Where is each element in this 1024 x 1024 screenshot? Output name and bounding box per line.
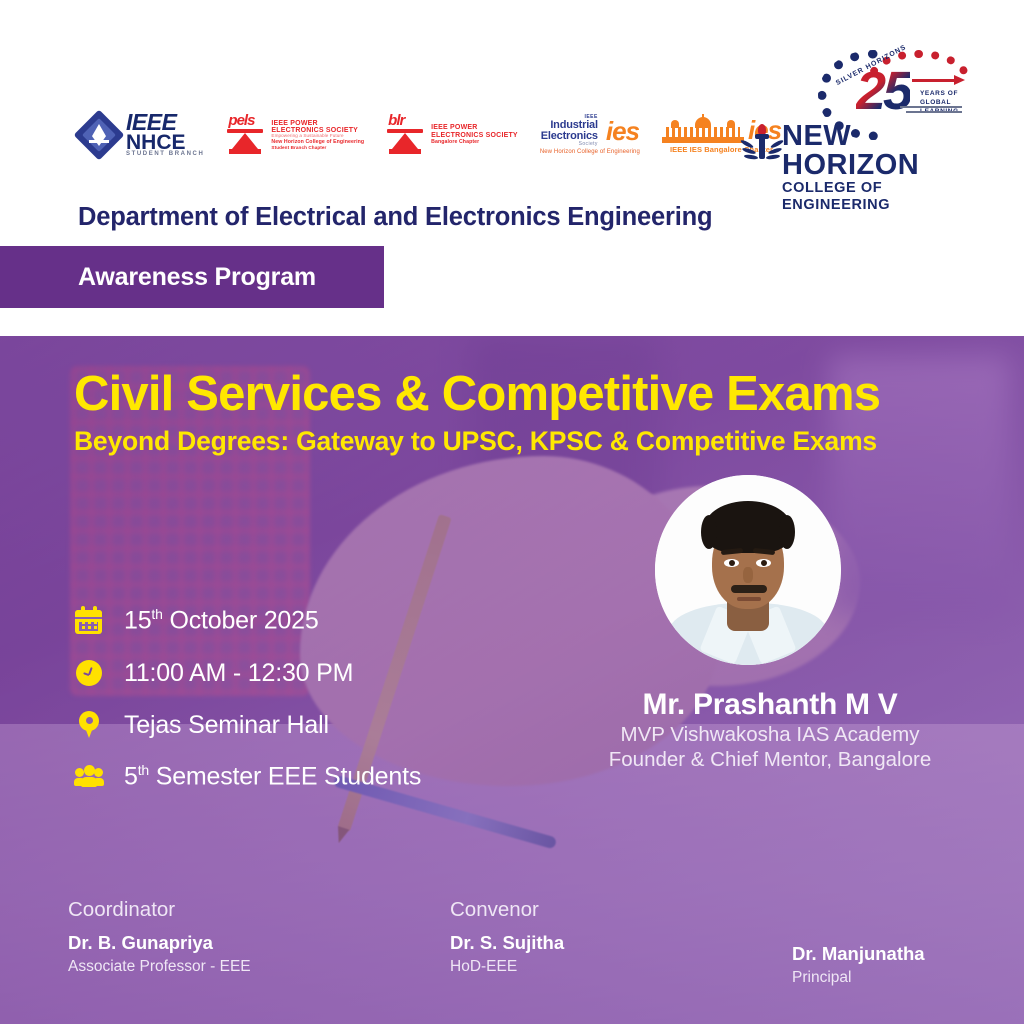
ies-text-society: Society [541, 142, 598, 147]
ieee-industrial-electronics-logo: IEEE Industrial Electronics Society ies … [540, 115, 640, 155]
audience-sem: 5 [124, 763, 138, 791]
audience-suffix: th [138, 762, 149, 778]
pels-mark-icon: pels [226, 114, 266, 156]
detail-row-venue: Tejas Seminar Hall [74, 710, 421, 740]
college-name-block: NEW HORIZON COLLEGE OF ENGINEERING [782, 122, 990, 215]
vidhana-soudha-building-icon [662, 117, 744, 143]
ies-institution-caption: New Horizon College of Engineering [540, 149, 640, 155]
coordinator-block: Coordinator Dr. B. Gunapriya Associate P… [68, 898, 251, 976]
calendar-icon [74, 606, 104, 636]
ieee-logo-line1: IEEE [126, 112, 204, 133]
people-group-icon [74, 762, 104, 792]
principal-name: Dr. Manjunatha [792, 943, 925, 965]
coordinator-designation: Associate Professor - EEE [68, 958, 251, 976]
program-type-label: Awareness Program [78, 263, 316, 292]
jubilee-arrow-icon [912, 74, 968, 86]
convenor-block: Convenor Dr. S. Sujitha HoD-EEE [450, 898, 564, 976]
ieee-pels-bangalore-logo: blr IEEE POWER ELECTRONICS SOCIETY Banga… [386, 114, 518, 156]
new-horizon-college-logo: SILVER HORIZONS 25 YEARS OF GLOBAL LEARN… [738, 48, 990, 166]
coordinator-name: Dr. B. Gunapriya [68, 932, 251, 954]
detail-time: 11:00 AM - 12:30 PM [124, 659, 353, 688]
speaker-organization: MVP Vishwakosha IAS Academy [560, 723, 980, 747]
date-rest: October 2025 [163, 607, 319, 635]
jubilee-swoosh-icon [900, 106, 974, 116]
principal-designation: Principal [792, 969, 925, 987]
speaker-role: Founder & Chief Mentor, Bangalore [560, 748, 980, 772]
detail-venue: Tejas Seminar Hall [124, 711, 329, 740]
date-day: 15 [124, 607, 151, 635]
speaker-avatar [655, 475, 841, 665]
event-subtitle: Beyond Degrees: Gateway to UPSC, KPSC & … [74, 428, 877, 455]
silver-jubilee-emblem: SILVER HORIZONS 25 YEARS OF GLOBAL LEARN… [816, 48, 954, 124]
convenor-role: Convenor [450, 898, 564, 922]
location-pin-icon [74, 710, 104, 740]
footer-section: Coordinator Dr. B. Gunapriya Associate P… [0, 880, 1024, 1024]
event-title: Civil Services & Competitive Exams [74, 370, 880, 419]
partner-logo-strip: IEEE NHCE STUDENT BRANCH pels IEEE POWER… [78, 104, 781, 166]
blr-text-4: Bangalore Chapter [431, 140, 518, 145]
blr-text-2: ELECTRONICS SOCIETY [431, 132, 518, 139]
detail-row-date: 15th October 2025 [74, 606, 421, 636]
department-title: Department of Electrical and Electronics… [78, 203, 712, 232]
convenor-name: Dr. S. Sujitha [450, 932, 564, 954]
college-subname: COLLEGE OF ENGINEERING [782, 180, 990, 215]
detail-row-audience: 5th Semester EEE Students [74, 762, 421, 792]
header-section: IEEE NHCE STUDENT BRANCH pels IEEE POWER… [0, 0, 1024, 336]
ieee-nhce-logo: IEEE NHCE STUDENT BRANCH [78, 112, 204, 158]
pels-text-5: Student Branch Chapter [271, 146, 364, 151]
ies-wordmark-icon: ies [606, 118, 639, 144]
speaker-name: Mr. Prashanth M V [560, 688, 980, 722]
date-suffix: th [151, 606, 162, 622]
college-name: NEW HORIZON [782, 122, 990, 180]
pels-wordmark: pels [228, 112, 254, 129]
coordinator-role: Coordinator [68, 898, 251, 922]
blr-wordmark: blr [388, 112, 404, 129]
blr-mark-icon: blr [386, 114, 426, 156]
pels-text-1: IEEE POWER [271, 120, 364, 127]
ieee-pels-nhce-logo: pels IEEE POWER ELECTRONICS SOCIETY Empo… [226, 114, 364, 156]
clock-icon [74, 658, 104, 688]
ieee-logo-line2: NHCE [126, 133, 204, 152]
convenor-designation: HoD-EEE [450, 958, 564, 976]
program-type-badge: Awareness Program [0, 246, 384, 308]
event-poster: IEEE NHCE STUDENT BRANCH pels IEEE POWER… [0, 0, 1024, 1024]
detail-row-time: 11:00 AM - 12:30 PM [74, 658, 421, 688]
audience-rest: Semester EEE Students [149, 763, 421, 791]
ieee-diamond-icon [78, 114, 120, 156]
torch-laurel-icon [738, 124, 786, 162]
detail-date: 15th October 2025 [124, 606, 319, 635]
ieee-logo-line3: STUDENT BRANCH [126, 152, 204, 158]
detail-audience: 5th Semester EEE Students [124, 762, 421, 791]
blr-text-1: IEEE POWER [431, 124, 518, 131]
principal-block: Dr. Manjunatha Principal [792, 933, 925, 987]
event-details-list: 15th October 2025 11:00 AM - 12:30 PM Te… [74, 606, 421, 792]
years-line-1: YEARS OF [920, 90, 958, 97]
